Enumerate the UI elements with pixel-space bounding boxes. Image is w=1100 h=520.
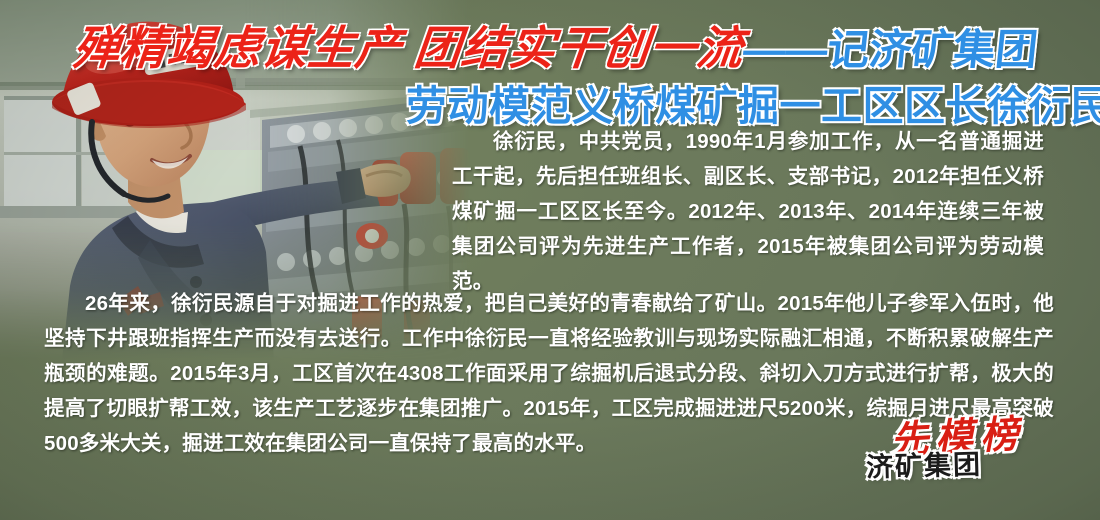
seal-subtitle: 济矿集团: [866, 442, 983, 484]
headline-slogan: 殚精竭虑谋生产 团结实干创一流: [70, 23, 746, 74]
poster-canvas: 殚精竭虑谋生产 团结实干创一流——记济矿集团 劳动模范义桥煤矿掘一工区区长徐衍民…: [0, 0, 1100, 520]
headline-attribution: ——记济矿集团: [741, 26, 1040, 73]
headline-primary: 殚精竭虑谋生产 团结实干创一流——记济矿集团: [71, 12, 1037, 68]
seal-emblem: 先模榜 济矿集团: [866, 406, 1052, 484]
intro-paragraph: 徐衍民，中共党员，1990年1月参加工作，从一名普通掘进工干起，先后担任班组长、…: [452, 124, 1044, 299]
headline-subtitle: 劳动模范义桥煤矿掘一工区区长徐衍民: [406, 72, 1100, 132]
